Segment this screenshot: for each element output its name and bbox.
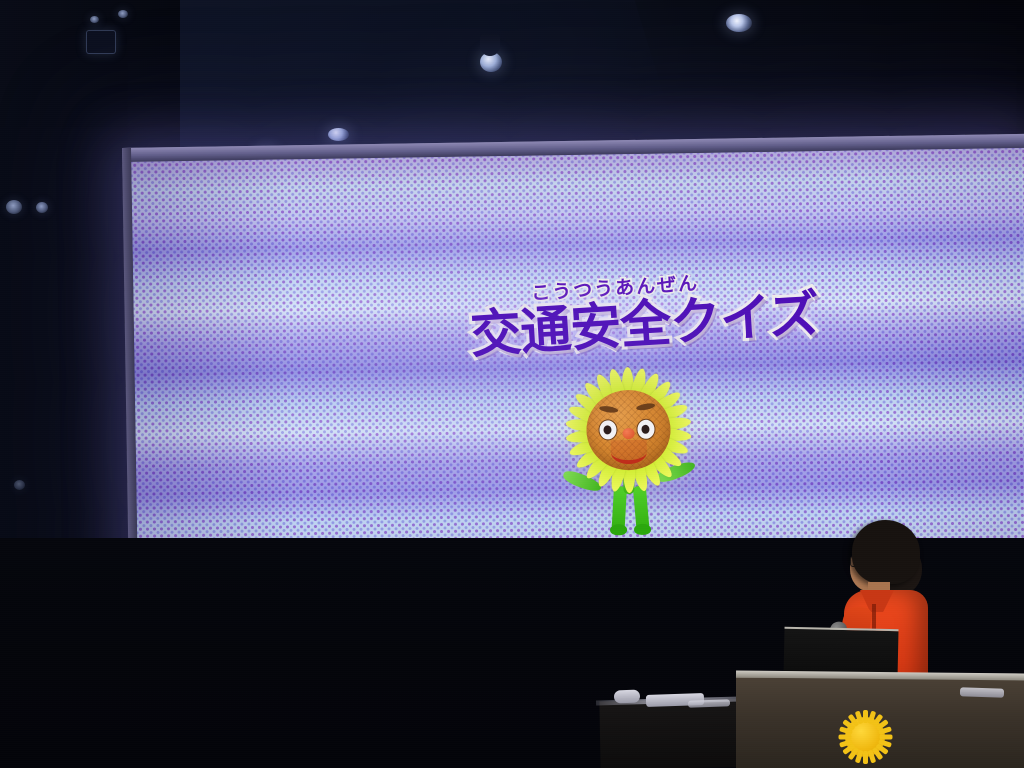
ceiling-ringlight-icon xyxy=(726,14,752,32)
wall-light-icon xyxy=(6,200,22,214)
sunflower-logo-ray xyxy=(839,735,852,740)
paper-item xyxy=(960,687,1004,698)
wall-light-icon xyxy=(14,480,25,490)
mascot-foot-right xyxy=(634,524,651,535)
sunflower-mascot-icon xyxy=(552,361,705,533)
ceiling-downlight-icon xyxy=(328,128,349,141)
auditorium-photo: こうつうあんぜん 交通安全クイズ xyxy=(0,0,1024,768)
mascot-foot-left xyxy=(610,524,627,535)
wall-light-icon xyxy=(36,202,48,213)
projection-screen[interactable]: こうつうあんぜん 交通安全クイズ xyxy=(122,134,1024,583)
paper-item xyxy=(688,699,730,707)
slide-canvas: こうつうあんぜん 交通安全クイズ xyxy=(131,148,1024,570)
ceiling-downlight-icon xyxy=(118,10,128,18)
presenter-hair xyxy=(852,520,920,584)
mascot-pupil-right xyxy=(641,425,649,434)
paper-item xyxy=(614,690,640,704)
mascot-pupil-left xyxy=(603,425,611,434)
sunflower-logo-icon xyxy=(838,710,892,764)
ceiling-downlight-icon xyxy=(90,16,99,23)
ceiling-spotlight-body xyxy=(480,34,500,56)
sunflower-logo-ray xyxy=(863,751,868,764)
ceiling-fixture-box-icon xyxy=(86,30,116,54)
